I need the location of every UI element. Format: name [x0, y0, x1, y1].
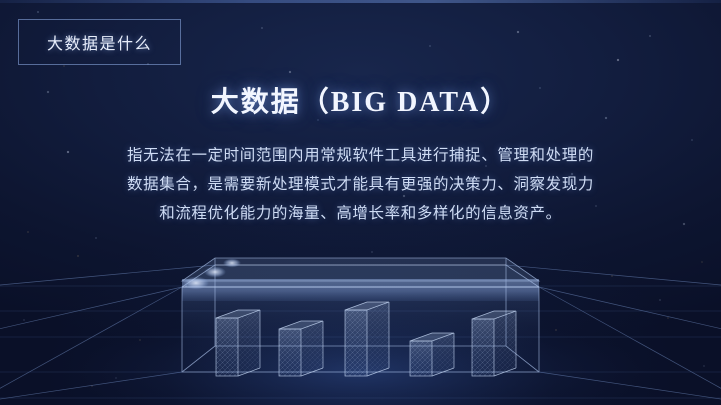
wireframe-room-box	[182, 258, 539, 372]
top-edge-glow	[0, 0, 721, 3]
perspective-lines	[0, 265, 721, 405]
wireframe-bar	[472, 311, 516, 376]
wireframe-bar	[279, 321, 323, 376]
horizon-lines	[0, 286, 721, 398]
wireframe-bar	[216, 310, 260, 376]
wireframe-bars	[216, 302, 516, 376]
wireframe-bar	[410, 333, 454, 376]
page-title: 大数据（BIG DATA）	[0, 80, 721, 120]
definition-paragraph: 指无法在一定时间范围内用常规软件工具进行捕捉、管理和处理的 数据集合，是需要新处…	[0, 141, 721, 228]
section-label-text: 大数据是什么	[47, 30, 152, 54]
wireframe-bar	[345, 302, 389, 376]
paragraph-line-3: 和流程优化能力的海量、高增长率和多样化的信息资产。	[0, 199, 721, 228]
paragraph-line-1: 指无法在一定时间范围内用常规软件工具进行捕捉、管理和处理的	[0, 141, 721, 170]
floor-glow	[70, 314, 650, 405]
highlight-dots	[183, 259, 241, 290]
slide-root: 大数据是什么 大数据（BIG DATA） 指无法在一定时间范围内用常规软件工具进…	[0, 0, 721, 405]
section-label-box: 大数据是什么	[18, 19, 181, 65]
paragraph-line-2: 数据集合，是需要新处理模式才能具有更强的决策力、洞察发现力	[0, 170, 721, 199]
